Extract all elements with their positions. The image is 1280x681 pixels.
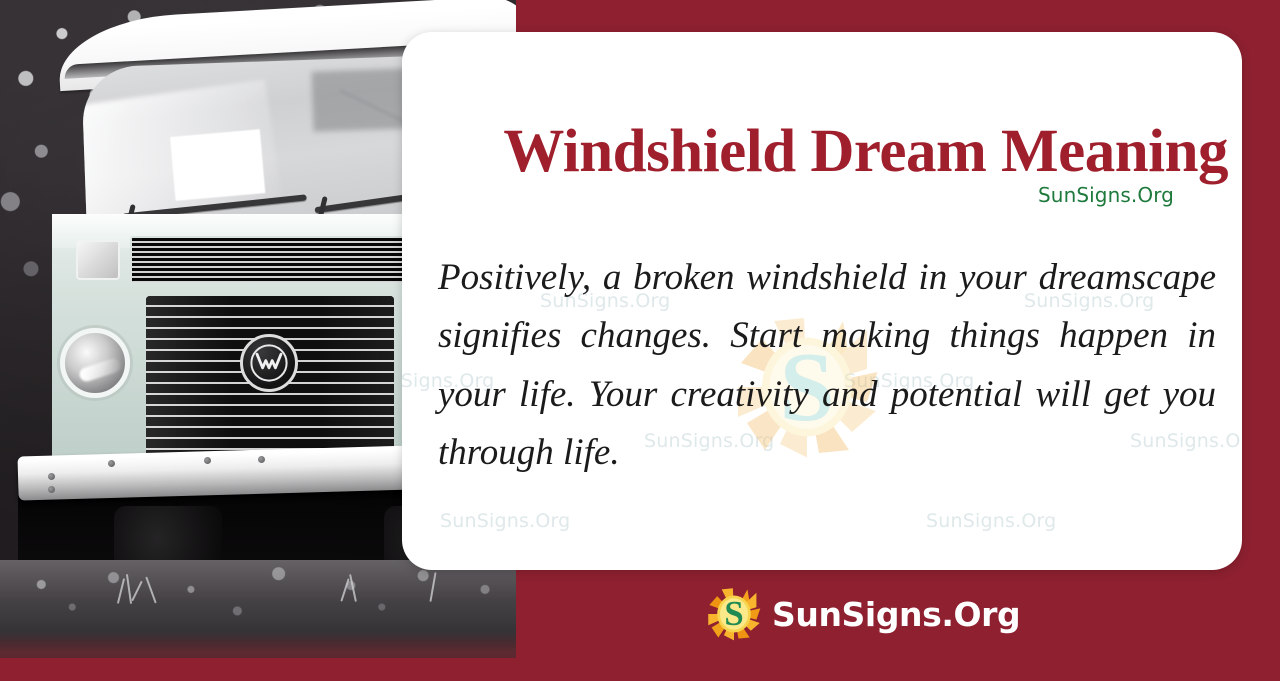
footer-logo[interactable]: S SunSigns.Org xyxy=(706,586,1020,642)
turn-signal-left xyxy=(76,240,120,280)
content-card: SunSigns.OrgSunSigns.OrgSunSigns.OrgSunS… xyxy=(402,32,1242,570)
sun-logo-icon: S xyxy=(706,586,762,642)
weed-sprig xyxy=(131,581,142,602)
bumper-bolt xyxy=(258,456,265,463)
weed-sprig xyxy=(429,572,436,602)
watermark-text: SunSigns.Org xyxy=(926,510,1056,532)
headlight-left xyxy=(60,328,130,398)
page-title: Windshield Dream Meaning xyxy=(438,120,1228,184)
svg-text:S: S xyxy=(724,594,743,633)
body-paragraph: Positively, a broken windshield in your … xyxy=(438,249,1216,483)
bumper-bolt xyxy=(48,473,55,480)
bumper-bolt xyxy=(48,486,55,493)
weed-sprig xyxy=(145,577,156,604)
weed-sprig xyxy=(349,574,357,602)
weed-sprig xyxy=(117,578,125,604)
title-brand-overlay: SunSigns.Org xyxy=(1038,183,1174,207)
bumper-bolt xyxy=(204,457,211,464)
watermark-text: SunSigns.Org xyxy=(440,510,570,532)
footer-brand-text: SunSigns.Org xyxy=(772,598,1020,631)
vent-slats xyxy=(132,238,446,282)
vw-logo-icon xyxy=(240,334,298,392)
headlight-glint-left xyxy=(78,357,122,383)
weed-sprig xyxy=(340,578,349,601)
poster-canvas: SunSigns.OrgSunSigns.OrgSunSigns.OrgSunS… xyxy=(0,0,1280,681)
dashboard-paper xyxy=(170,129,265,201)
upper-air-vent xyxy=(130,236,448,284)
bumper-bolt xyxy=(108,460,115,467)
photo-bottom-fade xyxy=(0,632,516,658)
